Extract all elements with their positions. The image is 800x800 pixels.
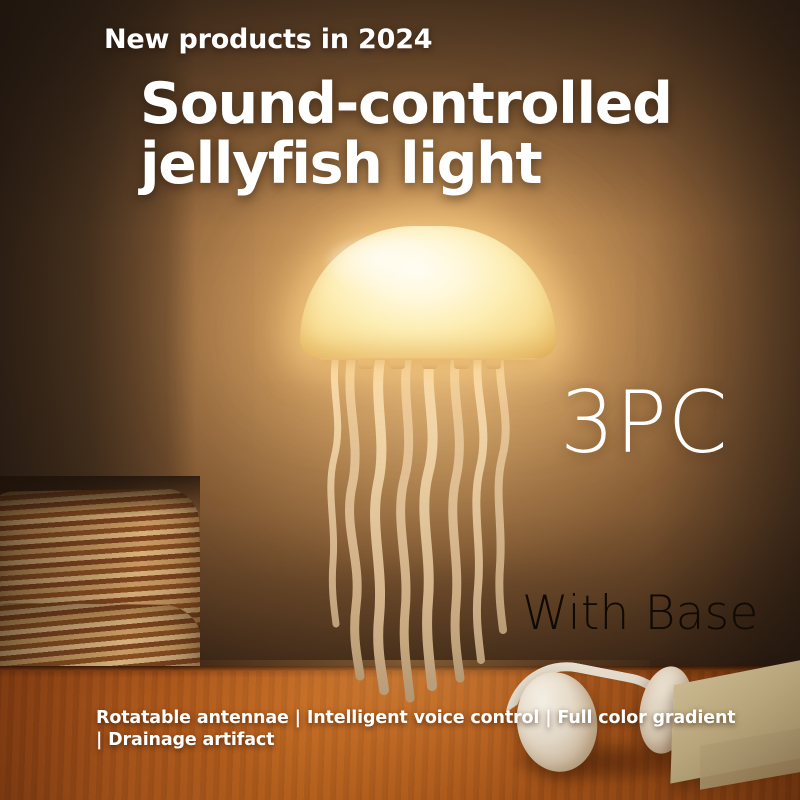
product-title: Sound-controlled jellyfish light [140, 74, 672, 195]
quantity-badge: 3PC [560, 373, 728, 473]
product-title-line-1: Sound-controlled [140, 71, 672, 137]
with-base-badge: With Base [522, 586, 758, 641]
jellyfish-dome-highlight [326, 236, 446, 290]
product-ad-banner: New products in 2024 Sound-controlled je… [0, 0, 800, 800]
kicker-headline: New products in 2024 [104, 24, 432, 55]
feature-list: Rotatable antennae | Intelligent voice c… [96, 707, 746, 752]
product-title-line-2: jellyfish light [140, 134, 672, 194]
